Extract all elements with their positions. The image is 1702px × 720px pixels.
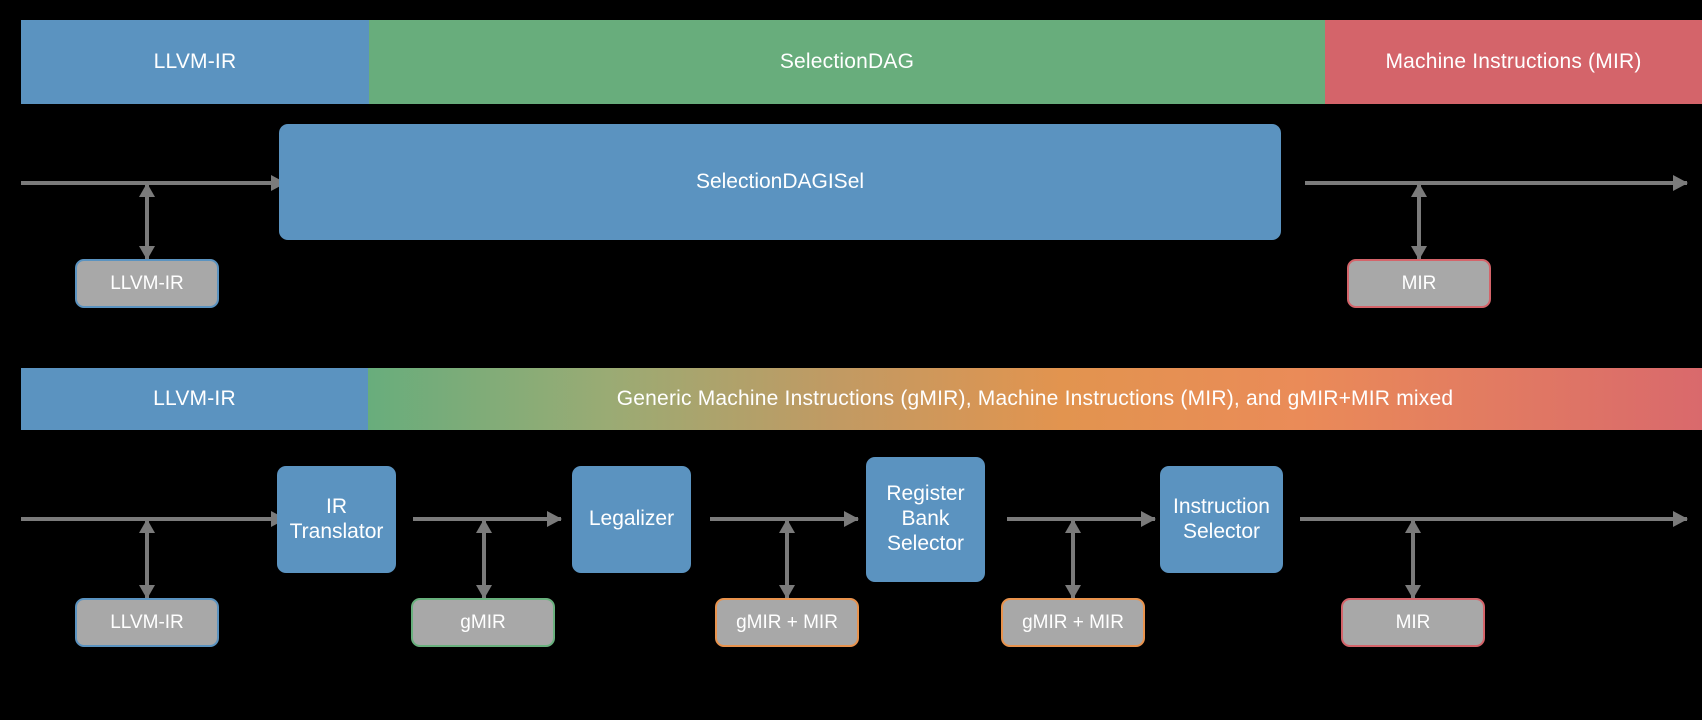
stage-ir-translator[interactable]: IR Translator bbox=[277, 466, 396, 573]
arrow-llvm-ir-to-flow-top bbox=[145, 184, 149, 259]
arrow-mir-to-flow-bottom bbox=[1411, 520, 1415, 598]
stage-instruction-selector[interactable]: Instruction Selector bbox=[1160, 466, 1283, 573]
band-label: SelectionDAG bbox=[780, 50, 914, 74]
chip-label: gMIR bbox=[460, 612, 505, 634]
diagram-canvas: LLVM-IR SelectionDAG Machine Instruction… bbox=[0, 0, 1702, 720]
band-segment-llvm-ir-bottom: LLVM-IR bbox=[21, 368, 368, 430]
arrow-out-instruction-selector bbox=[1300, 517, 1687, 521]
band-label: Machine Instructions (MIR) bbox=[1385, 50, 1641, 74]
band-label: LLVM-IR bbox=[153, 387, 236, 411]
chip-gmir[interactable]: gMIR bbox=[411, 598, 555, 647]
stage-label: SelectionDAGISel bbox=[696, 170, 864, 195]
chip-llvm-ir-top[interactable]: LLVM-IR bbox=[75, 259, 219, 308]
band-segment-selectiondag: SelectionDAG bbox=[369, 20, 1325, 104]
stage-register-bank-selector[interactable]: Register Bank Selector bbox=[866, 457, 985, 582]
arrow-gmir-to-flow bbox=[482, 520, 486, 598]
band-segment-mir-top: Machine Instructions (MIR) bbox=[1325, 20, 1702, 104]
chip-label: LLVM-IR bbox=[110, 612, 184, 634]
chip-llvm-ir-bottom[interactable]: LLVM-IR bbox=[75, 598, 219, 647]
stage-legalizer[interactable]: Legalizer bbox=[572, 466, 691, 573]
chip-gmir-mir-1[interactable]: gMIR + MIR bbox=[715, 598, 859, 647]
arrow-gmir-mir-2-to-flow bbox=[1071, 520, 1075, 598]
stage-selectiondagisel[interactable]: SelectionDAGISel bbox=[279, 124, 1281, 240]
chip-label: gMIR + MIR bbox=[736, 612, 838, 634]
arrow-out-selectiondagisel bbox=[1305, 181, 1687, 185]
chip-mir-bottom[interactable]: MIR bbox=[1341, 598, 1485, 647]
arrow-gmir-mir-1-to-flow bbox=[785, 520, 789, 598]
chip-gmir-mir-2[interactable]: gMIR + MIR bbox=[1001, 598, 1145, 647]
chip-label: MIR bbox=[1396, 612, 1431, 634]
stage-label: Legalizer bbox=[589, 507, 674, 532]
chip-mir-top[interactable]: MIR bbox=[1347, 259, 1491, 308]
band-label: Generic Machine Instructions (gMIR), Mac… bbox=[617, 387, 1453, 411]
stage-label: Register Bank Selector bbox=[886, 482, 964, 556]
band-segment-llvm-ir-top: LLVM-IR bbox=[21, 20, 369, 104]
arrow-mir-to-flow-top bbox=[1417, 184, 1421, 259]
chip-label: LLVM-IR bbox=[110, 273, 184, 295]
stage-label: Instruction Selector bbox=[1173, 495, 1270, 545]
arrow-register-bank-selector-to-instruction-selector bbox=[1007, 517, 1155, 521]
arrow-llvm-ir-to-flow-bottom bbox=[145, 520, 149, 598]
band-label: LLVM-IR bbox=[154, 50, 237, 74]
band-segment-gmir-mir-mixed: Generic Machine Instructions (gMIR), Mac… bbox=[368, 368, 1702, 430]
stage-label: IR Translator bbox=[290, 495, 384, 545]
chip-label: gMIR + MIR bbox=[1022, 612, 1124, 634]
chip-label: MIR bbox=[1402, 273, 1437, 295]
